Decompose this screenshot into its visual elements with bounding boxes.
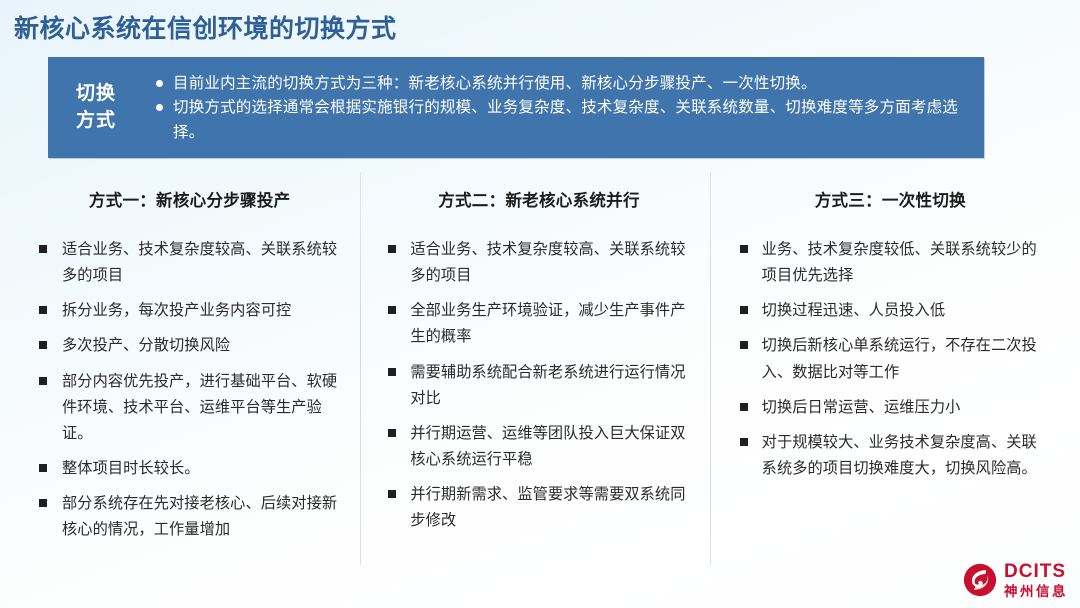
- column-title: 方式一：新核心分步骤投产: [34, 187, 345, 211]
- column-method-one: 方式一：新核心分步骤投产 适合业务、技术复杂度较高、关联系统较多的项目 拆分业务…: [18, 172, 361, 567]
- list-item: 拆分业务，每次投产业务内容可控: [34, 298, 345, 324]
- list-item-text: 全部业务生产环境验证，减少生产事件产生的概率: [410, 302, 685, 345]
- square-bullet-icon: [740, 341, 748, 349]
- banner-bullet-text: 切换方式的选择通常会根据实施银行的规模、业务复杂度、技术复杂度、关联系统数量、切…: [173, 99, 958, 140]
- list-item: 整体项目时长较长。: [34, 456, 345, 482]
- square-bullet-icon: [39, 306, 47, 314]
- square-bullet-icon: [39, 341, 47, 349]
- column-title: 方式三：一次性切换: [735, 187, 1046, 211]
- column-method-two: 方式二：新老核心系统并行 适合业务、技术复杂度较高、关联系统较多的项目 全部业务…: [361, 172, 710, 567]
- square-bullet-icon: [39, 464, 47, 472]
- list-item-text: 对于规模较大、业务技术复杂度高、关联系统多的项目切换难度大，切换风险高。: [762, 434, 1037, 477]
- list-item: 对于规模较大、业务技术复杂度高、关联系统多的项目切换难度大，切换风险高。: [735, 430, 1046, 482]
- list-item-text: 适合业务、技术复杂度较高、关联系统较多的项目: [62, 241, 337, 284]
- list-item: 部分内容优先投产，进行基础平台、软硬件环境、技术平台、运维平台等生产验证。: [34, 369, 345, 447]
- square-bullet-icon: [388, 490, 396, 498]
- column-method-three: 方式三：一次性切换 业务、技术复杂度较低、关联系统较少的项目优先选择 切换过程迅…: [711, 172, 1062, 567]
- list-item: 业务、技术复杂度较低、关联系统较少的项目优先选择: [735, 237, 1046, 289]
- logo-text: DCITS 神州信息: [1004, 562, 1068, 599]
- square-bullet-icon: [740, 403, 748, 411]
- list-item-text: 业务、技术复杂度较低、关联系统较少的项目优先选择: [762, 241, 1037, 284]
- list-item-text: 切换过程迅速、人员投入低: [762, 302, 945, 319]
- summary-banner: 切换 方式 目前业内主流的切换方式为三种：新老核心系统并行使用、新核心分步骤投产…: [48, 57, 984, 158]
- square-bullet-icon: [39, 499, 47, 507]
- list-item-text: 需要辅助系统配合新老系统进行运行情况对比: [410, 364, 685, 407]
- square-bullet-icon: [388, 429, 396, 437]
- list-item: 适合业务、技术复杂度较高、关联系统较多的项目: [383, 237, 694, 289]
- square-bullet-icon: [388, 245, 396, 253]
- list-item: 部分系统存在先对接老核心、后续对接新核心的情况，工作量增加: [34, 491, 345, 543]
- banner-bullet-text: 目前业内主流的切换方式为三种：新老核心系统并行使用、新核心分步骤投产、一次性切换…: [173, 75, 817, 92]
- page-title: 新核心系统在信创环境的切换方式: [14, 9, 397, 45]
- comparison-columns: 方式一：新核心分步骤投产 适合业务、技术复杂度较高、关联系统较多的项目 拆分业务…: [18, 172, 1062, 567]
- banner-label-line2: 方式: [76, 108, 116, 135]
- square-bullet-icon: [740, 438, 748, 446]
- list-item-text: 多次投产、分散切换风险: [62, 337, 230, 354]
- list-item: 需要辅助系统配合新老系统进行运行情况对比: [383, 360, 694, 412]
- list-item-text: 适合业务、技术复杂度较高、关联系统较多的项目: [410, 241, 685, 284]
- banner-label: 切换 方式: [48, 57, 144, 158]
- column-bullet-list: 适合业务、技术复杂度较高、关联系统较多的项目 全部业务生产环境验证，减少生产事件…: [383, 237, 694, 534]
- logo-english-name: DCITS: [1004, 562, 1068, 581]
- list-item-text: 切换后日常运营、运维压力小: [762, 399, 961, 416]
- banner-bullet-item: 目前业内主流的切换方式为三种：新老核心系统并行使用、新核心分步骤投产、一次性切换…: [154, 72, 968, 96]
- list-item-text: 部分系统存在先对接老核心、后续对接新核心的情况，工作量增加: [62, 495, 337, 538]
- list-item: 并行期新需求、监管要求等需要双系统同步修改: [383, 482, 694, 534]
- list-item-text: 部分内容优先投产，进行基础平台、软硬件环境、技术平台、运维平台等生产验证。: [62, 373, 337, 442]
- column-bullet-list: 业务、技术复杂度较低、关联系统较少的项目优先选择 切换过程迅速、人员投入低 切换…: [735, 237, 1046, 482]
- bullet-dot-icon: [156, 80, 163, 87]
- list-item-text: 拆分业务，每次投产业务内容可控: [62, 302, 291, 319]
- list-item-text: 切换后新核心单系统运行，不存在二次投入、数据比对等工作: [762, 337, 1037, 380]
- square-bullet-icon: [39, 377, 47, 385]
- bullet-dot-icon: [156, 104, 163, 111]
- square-bullet-icon: [740, 245, 748, 253]
- square-bullet-icon: [39, 245, 47, 253]
- list-item-text: 并行期运营、运维等团队投入巨大保证双核心系统运行平稳: [410, 425, 685, 468]
- banner-bullet-item: 切换方式的选择通常会根据实施银行的规模、业务复杂度、技术复杂度、关联系统数量、切…: [154, 96, 968, 145]
- list-item: 切换后日常运营、运维压力小: [735, 395, 1046, 421]
- list-item-text: 整体项目时长较长。: [62, 460, 200, 477]
- list-item: 全部业务生产环境验证，减少生产事件产生的概率: [383, 298, 694, 350]
- list-item: 适合业务、技术复杂度较高、关联系统较多的项目: [34, 237, 345, 289]
- swirl-logo-icon: [962, 563, 998, 597]
- list-item: 并行期运营、运维等团队投入巨大保证双核心系统运行平稳: [383, 421, 694, 473]
- company-logo: DCITS 神州信息: [962, 562, 1068, 599]
- square-bullet-icon: [388, 306, 396, 314]
- logo-chinese-name: 神州信息: [1004, 585, 1068, 599]
- list-item: 多次投产、分散切换风险: [34, 333, 345, 359]
- square-bullet-icon: [740, 306, 748, 314]
- square-bullet-icon: [388, 368, 396, 376]
- list-item-text: 并行期新需求、监管要求等需要双系统同步修改: [410, 486, 685, 529]
- column-bullet-list: 适合业务、技术复杂度较高、关联系统较多的项目 拆分业务，每次投产业务内容可控 多…: [34, 237, 345, 543]
- list-item: 切换后新核心单系统运行，不存在二次投入、数据比对等工作: [735, 333, 1046, 385]
- list-item: 切换过程迅速、人员投入低: [735, 298, 1046, 324]
- column-title: 方式二：新老核心系统并行: [383, 187, 694, 211]
- banner-label-line1: 切换: [76, 81, 116, 108]
- slide-canvas: 新核心系统在信创环境的切换方式 切换 方式 目前业内主流的切换方式为三种：新老核…: [0, 0, 1080, 608]
- banner-bullet-list: 目前业内主流的切换方式为三种：新老核心系统并行使用、新核心分步骤投产、一次性切换…: [144, 57, 984, 158]
